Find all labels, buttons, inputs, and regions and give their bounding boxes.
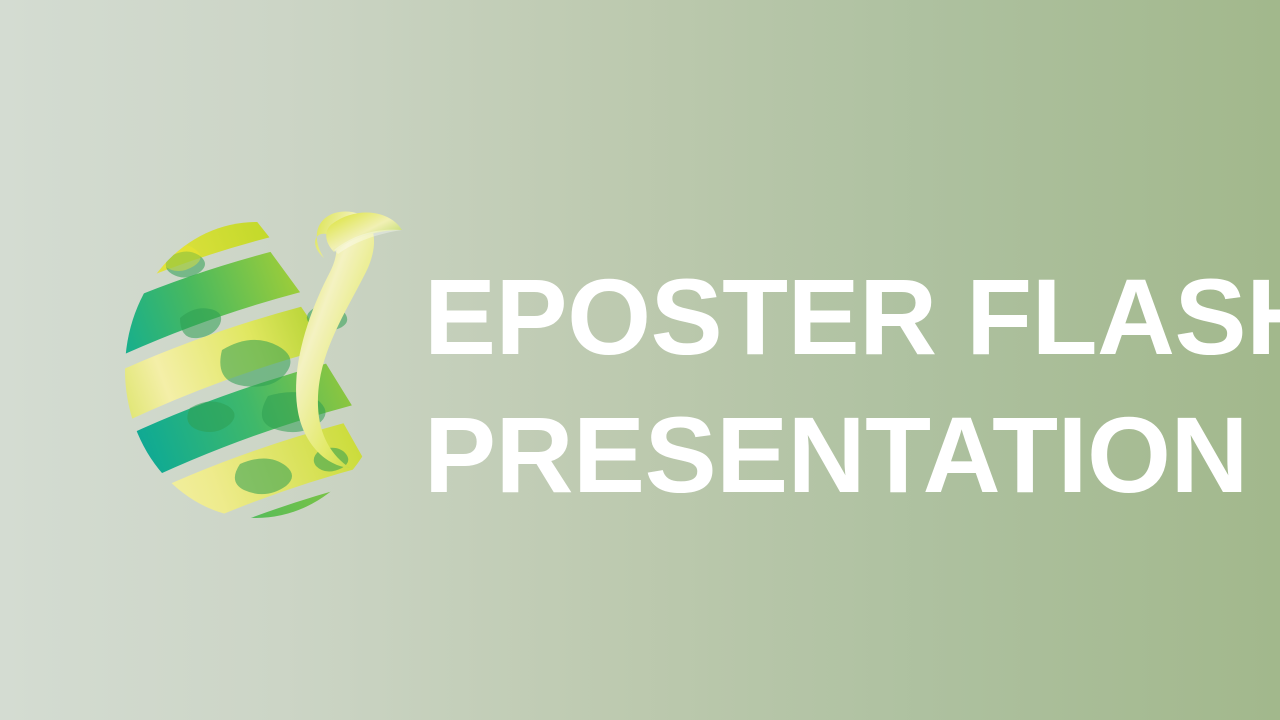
page-title: EPOSTER FLASH PRESENTATION	[424, 248, 1224, 524]
slide-canvas: EPOSTER FLASH PRESENTATION	[0, 0, 1280, 720]
title-line-2: PRESENTATION	[424, 386, 1224, 524]
title-line-1: EPOSTER FLASH	[424, 248, 1224, 386]
spiral-globe-leaf-logo	[118, 200, 408, 520]
